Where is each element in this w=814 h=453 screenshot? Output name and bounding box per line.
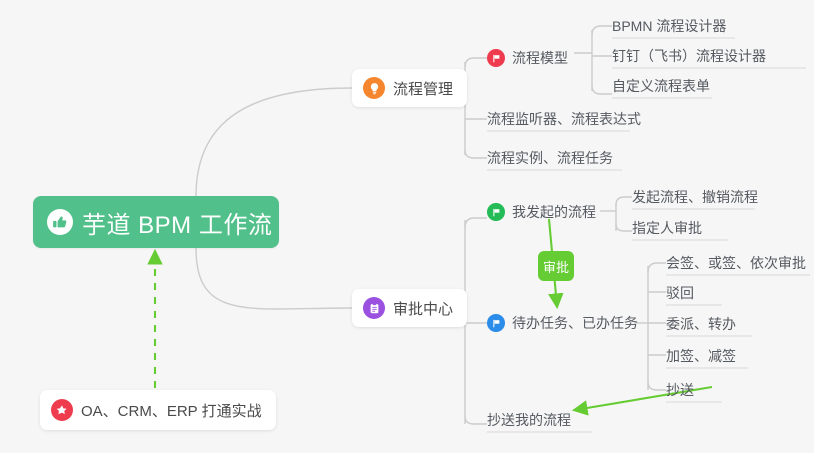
node-oa-crm-erp-label: OA、CRM、ERP 打通实战 [81, 400, 262, 421]
node-assignee-approval-label: 指定人审批 [632, 218, 702, 238]
node-approval-center[interactable]: 审批中心 [352, 289, 467, 327]
node-countersign-orsign-sequential-label: 会签、或签、依次审批 [666, 253, 806, 273]
link-model-to-bpmn [592, 26, 612, 35]
node-my-started-process-label: 我发起的流程 [512, 202, 596, 222]
link-model-to-form [592, 86, 612, 94]
link-pm-to-instance [465, 150, 487, 158]
link-pm-to-model [465, 58, 487, 67]
node-custom-process-form-label: 自定义流程表单 [612, 76, 710, 96]
node-process-model-label: 流程模型 [512, 48, 568, 68]
node-custom-process-form[interactable]: 自定义流程表单 [612, 74, 710, 98]
node-process-instance-task-label: 流程实例、流程任务 [487, 148, 613, 168]
node-todo-done-tasks[interactable]: 待办任务、已办任务 [487, 311, 638, 335]
node-approval-center-label: 审批中心 [393, 298, 453, 319]
node-cc-my-process[interactable]: 抄送我的流程 [487, 408, 571, 432]
link-root-to-approval-center [196, 248, 352, 309]
node-delegate-transfer[interactable]: 委派、转办 [666, 312, 736, 336]
node-reject[interactable]: 驳回 [666, 281, 694, 305]
node-my-started-process[interactable]: 我发起的流程 [487, 200, 596, 224]
node-process-management[interactable]: 流程管理 [352, 69, 467, 107]
node-reject-label: 驳回 [666, 283, 694, 303]
node-process-listener-expression-label: 流程监听器、流程表达式 [487, 109, 641, 129]
mindmap-canvas: 芋道 BPM 工作流 流程管理 审批中心 [0, 0, 814, 453]
node-process-model[interactable]: 流程模型 [487, 46, 568, 70]
node-bpmn-designer[interactable]: BPMN 流程设计器 [612, 14, 726, 38]
node-todo-done-tasks-label: 待办任务、已办任务 [512, 313, 638, 333]
badge-approve-label: 审批 [543, 257, 569, 276]
link-mystart-to-assignee [616, 224, 632, 231]
node-oa-crm-erp[interactable]: OA、CRM、ERP 打通实战 [40, 390, 276, 430]
flag-icon [487, 49, 505, 67]
flag-icon [487, 203, 505, 221]
link-mystart-to-start [616, 197, 632, 205]
node-start-cancel-process-label: 发起流程、撤销流程 [632, 187, 758, 207]
thumbs-up-icon [47, 209, 73, 235]
node-process-listener-expression[interactable]: 流程监听器、流程表达式 [487, 107, 641, 131]
node-start-cancel-process[interactable]: 发起流程、撤销流程 [632, 185, 758, 209]
clipboard-icon [363, 297, 385, 319]
node-process-management-label: 流程管理 [393, 78, 453, 99]
node-assignee-approval[interactable]: 指定人审批 [632, 216, 702, 240]
node-dingtalk-feishu-designer-label: 钉钉（飞书）流程设计器 [612, 46, 766, 66]
link-ac-to-mystart [465, 218, 487, 228]
node-countersign-orsign-sequential[interactable]: 会签、或签、依次审批 [666, 251, 806, 275]
lightbulb-icon [363, 77, 385, 99]
star-icon [51, 399, 73, 421]
link-root-to-process-mgmt [196, 88, 352, 196]
root-node[interactable]: 芋道 BPM 工作流 [33, 196, 279, 248]
flag-icon [487, 314, 505, 332]
link-ac-to-ccmine [465, 416, 487, 424]
link-todo-to-countersign [648, 263, 666, 272]
link-todo-to-cc [648, 382, 666, 390]
node-add-remove-sign[interactable]: 加签、减签 [666, 344, 736, 368]
root-label: 芋道 BPM 工作流 [82, 205, 272, 240]
node-cc[interactable]: 抄送 [666, 378, 694, 402]
badge-approve[interactable]: 审批 [538, 251, 574, 281]
node-dingtalk-feishu-designer[interactable]: 钉钉（飞书）流程设计器 [612, 44, 766, 68]
node-delegate-transfer-label: 委派、转办 [666, 314, 736, 334]
node-bpmn-designer-label: BPMN 流程设计器 [612, 16, 726, 36]
node-add-remove-sign-label: 加签、减签 [666, 346, 736, 366]
node-process-instance-task[interactable]: 流程实例、流程任务 [487, 146, 613, 170]
node-cc-label: 抄送 [666, 380, 694, 400]
node-cc-my-process-label: 抄送我的流程 [487, 410, 571, 430]
